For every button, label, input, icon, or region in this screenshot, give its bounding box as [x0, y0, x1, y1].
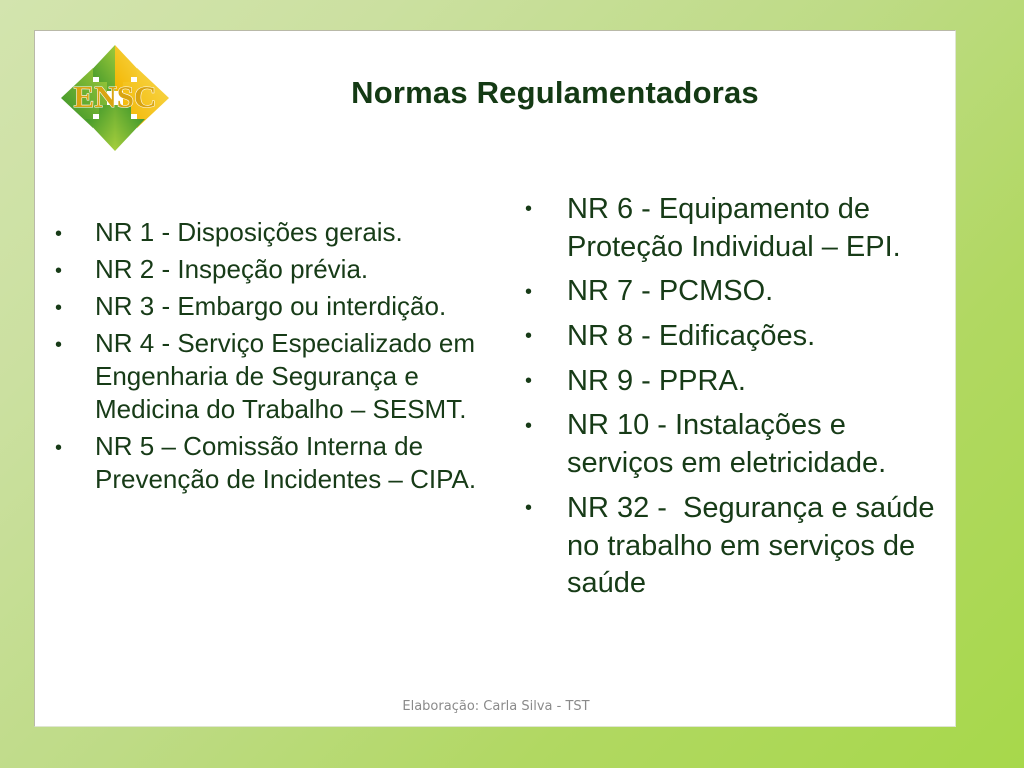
slide-card: ENSC Normas Regulamentadoras • NR 1 - Di… — [34, 30, 956, 727]
list-item[interactable]: • NR 8 - Edificações. — [525, 318, 956, 356]
ensc-logo-text: ENSC — [74, 79, 157, 114]
list-item[interactable]: • NR 32 - Segurança e saúde no trabalho … — [525, 490, 956, 603]
ensc-logo: ENSC — [51, 35, 179, 161]
list-item[interactable]: • NR 3 - Embargo ou interdição. — [55, 290, 517, 323]
bullet-icon: • — [55, 290, 95, 318]
list-item-label: NR 7 - PCMSO. — [567, 273, 956, 311]
list-item-label: NR 10 - Instalações e serviços em eletri… — [567, 407, 956, 482]
list-item-label: NR 5 – Comissão Interna de Prevenção de … — [95, 430, 517, 496]
page-title: Normas Regulamentadoras — [185, 75, 925, 111]
slide-header: ENSC Normas Regulamentadoras — [35, 31, 955, 163]
bullet-icon: • — [525, 490, 567, 518]
list-item-label: NR 8 - Edificações. — [567, 318, 956, 356]
list-item-label: NR 6 - Equipamento de Proteção Individua… — [567, 191, 956, 266]
list-item[interactable]: • NR 10 - Instalações e serviços em elet… — [525, 407, 956, 482]
list-item[interactable]: • NR 2 - Inspeção prévia. — [55, 253, 517, 286]
list-item-label: NR 32 - Segurança e saúde no trabalho em… — [567, 490, 956, 603]
list-item[interactable]: • NR 9 - PPRA. — [525, 363, 956, 401]
slide-frame: ENSC Normas Regulamentadoras • NR 1 - Di… — [0, 0, 1024, 768]
bullet-icon: • — [525, 191, 567, 219]
list-item-label: NR 1 - Disposições gerais. — [95, 216, 517, 249]
bullet-icon: • — [55, 216, 95, 244]
list-item-label: NR 3 - Embargo ou interdição. — [95, 290, 517, 323]
list-item[interactable]: • NR 5 – Comissão Interna de Prevenção d… — [55, 430, 517, 496]
list-item[interactable]: • NR 1 - Disposições gerais. — [55, 216, 517, 249]
list-item-label: NR 4 - Serviço Especializado em Engenhar… — [95, 327, 517, 426]
bullet-icon: • — [525, 273, 567, 301]
list-item-label: NR 2 - Inspeção prévia. — [95, 253, 517, 286]
bullet-icon: • — [525, 318, 567, 346]
list-item-label: NR 9 - PPRA. — [567, 363, 956, 401]
bullet-icon: • — [525, 363, 567, 391]
content-columns: • NR 1 - Disposições gerais. • NR 2 - In… — [35, 191, 956, 691]
bullet-icon: • — [55, 253, 95, 281]
list-item[interactable]: • NR 4 - Serviço Especializado em Engenh… — [55, 327, 517, 426]
bullet-icon: • — [525, 407, 567, 435]
slide-footer-credit: Elaboração: Carla Silva - TST — [35, 699, 956, 714]
list-item[interactable]: • NR 7 - PCMSO. — [525, 273, 956, 311]
bullet-icon: • — [55, 327, 95, 355]
nr-list-left: • NR 1 - Disposições gerais. • NR 2 - In… — [35, 191, 517, 500]
list-item[interactable]: • NR 6 - Equipamento de Proteção Individ… — [525, 191, 956, 266]
bullet-icon: • — [55, 430, 95, 458]
nr-list-right: • NR 6 - Equipamento de Proteção Individ… — [517, 191, 956, 610]
